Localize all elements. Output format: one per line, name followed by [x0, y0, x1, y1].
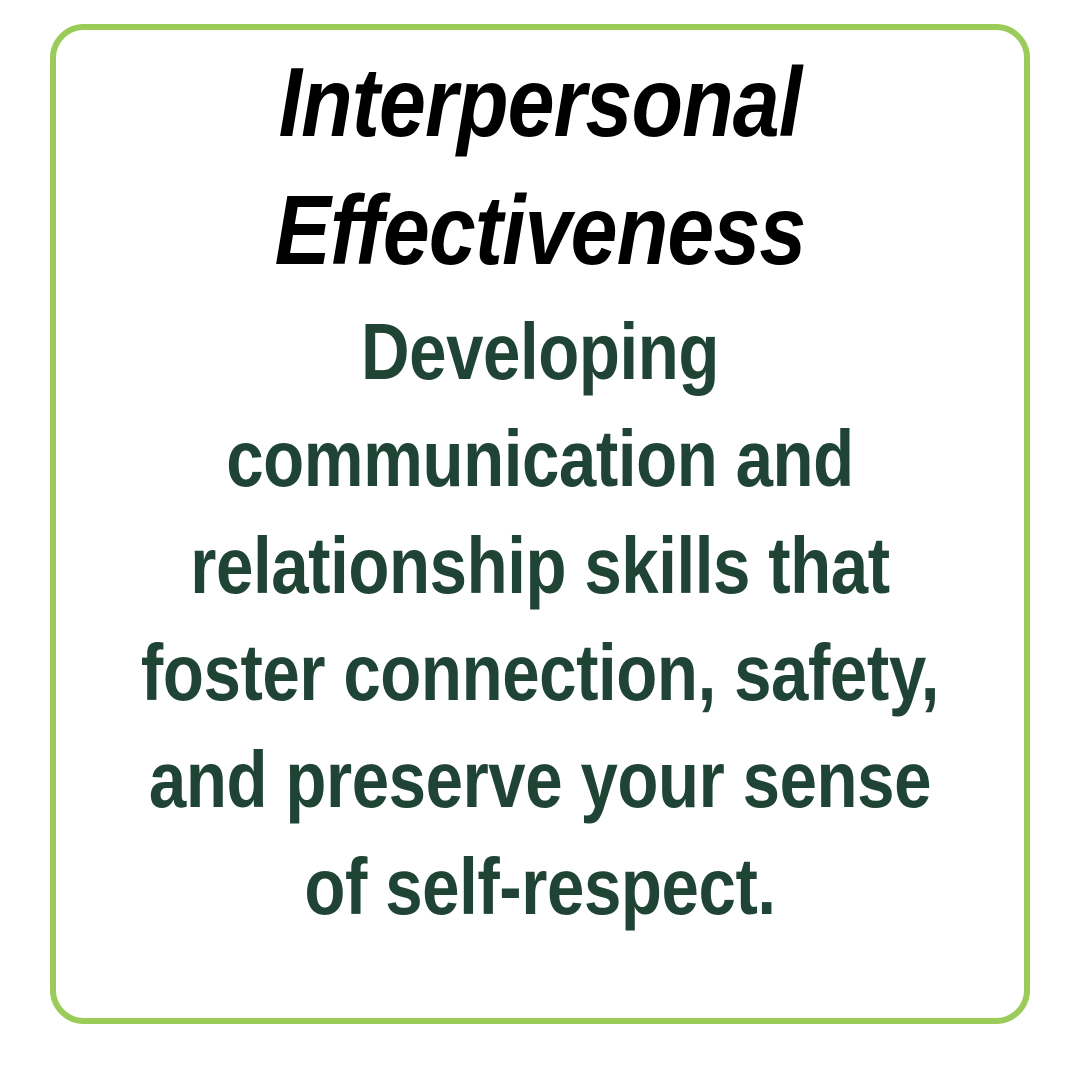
card-description: Developing communication and relationshi…	[135, 294, 945, 940]
card-title: Interpersonal Effectiveness	[125, 24, 954, 294]
page-root: Interpersonal Effectiveness Developing c…	[0, 0, 1080, 1080]
info-card-content: Interpersonal Effectiveness Developing c…	[50, 24, 1030, 940]
